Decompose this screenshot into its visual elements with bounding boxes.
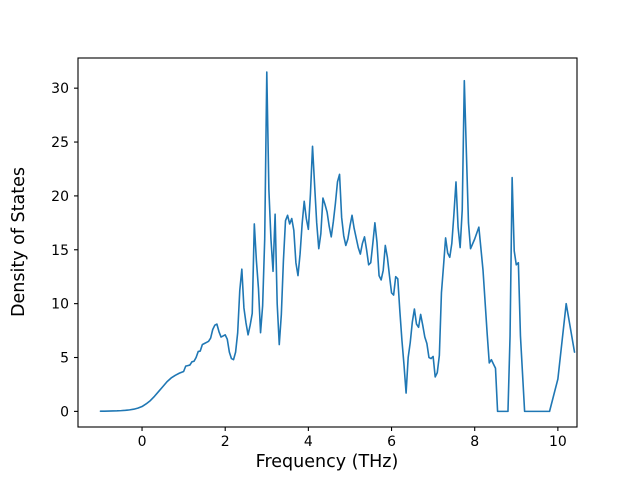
x-tick-label: 2 [221,434,230,450]
x-tick-label: 4 [304,434,313,450]
x-tick-label: 6 [387,434,396,450]
x-tick-label: 0 [138,434,147,450]
dos-plot: 0246810 051015202530 Frequency (THz) Den… [0,0,640,480]
y-tick-label: 15 [51,243,69,259]
y-tick-label: 20 [51,189,69,205]
x-tick-label: 8 [470,434,479,450]
y-tick-label: 0 [60,404,69,420]
y-tick-label: 10 [51,297,69,313]
y-tick-labels: 051015202530 [51,81,69,420]
y-axis-title: Density of States [9,167,29,317]
y-tick-label: 30 [51,81,69,97]
y-tick-marks [74,88,78,411]
axes-region: 0246810 051015202530 [51,58,577,450]
y-tick-label: 25 [51,135,69,151]
figure-canvas: 0246810 051015202530 Frequency (THz) Den… [0,0,640,480]
y-tick-label: 5 [60,351,69,367]
x-axis-title: Frequency (THz) [256,452,399,472]
x-tick-label: 10 [549,434,567,450]
x-tick-labels: 0246810 [138,434,567,450]
data-series-group [100,72,574,411]
axes-frame [78,58,577,427]
x-tick-marks [142,427,558,431]
dos-curve [100,72,574,411]
